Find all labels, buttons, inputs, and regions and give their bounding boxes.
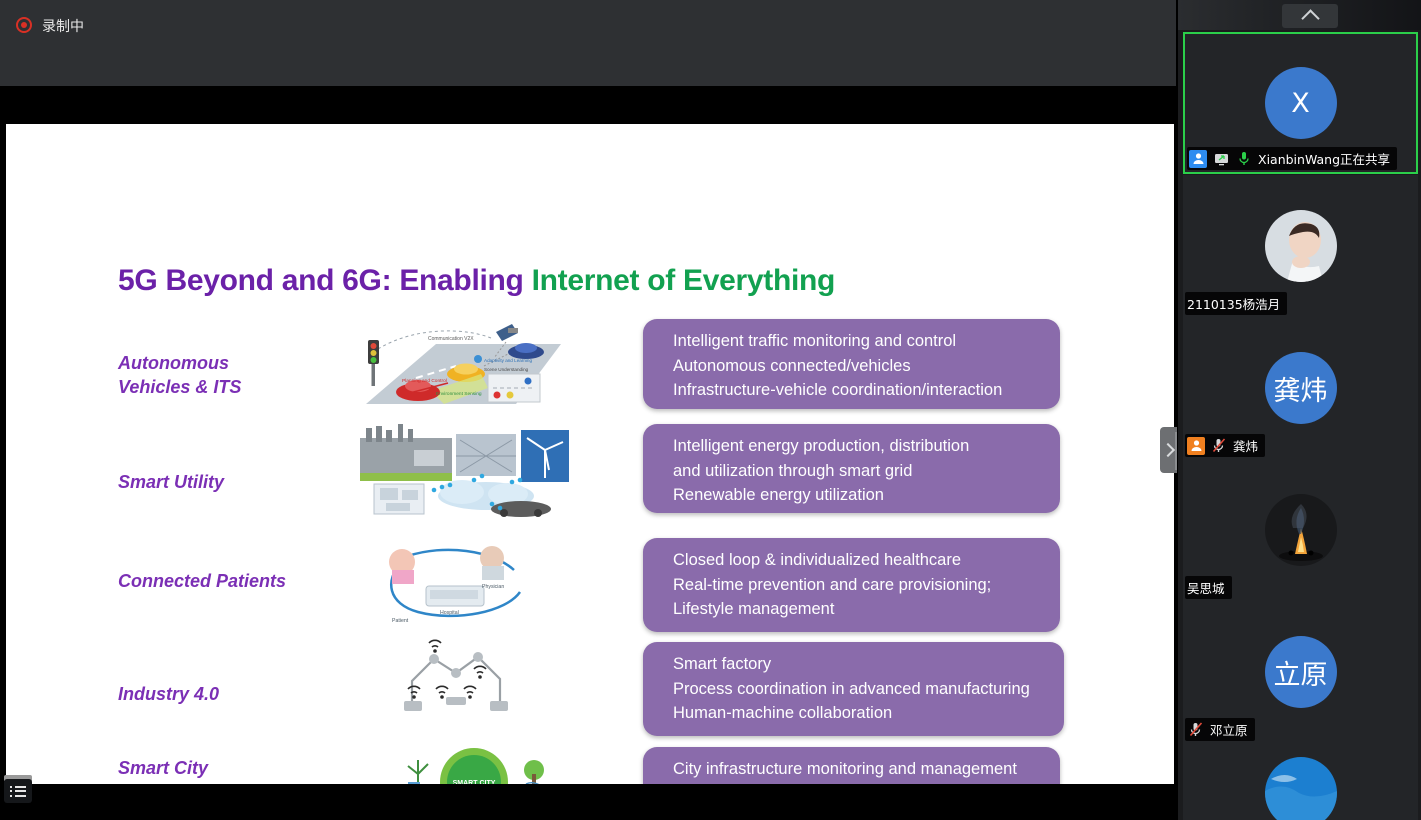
connected-patients-diagram: Patient Physician Hospital <box>374 542 539 630</box>
svg-text:Physician: Physician <box>482 584 504 590</box>
avatar: X <box>1265 67 1337 139</box>
chevron-up-icon <box>1301 9 1319 27</box>
collapse-up-button[interactable] <box>1282 4 1338 28</box>
smart-city-diagram: SMART CITY <box>384 730 564 784</box>
participant-name: 吴思城 <box>1187 578 1225 597</box>
mic-on-icon <box>1235 150 1253 168</box>
card-bullet: City infrastructure monitoring and manag… <box>673 757 1042 782</box>
content-card-industry-40: Smart factory Process coordination in ad… <box>643 642 1064 736</box>
svg-text:Environment Sensing: Environment Sensing <box>436 391 482 397</box>
svg-text:Planning and Control: Planning and Control <box>402 378 447 384</box>
row-label-industry-40: Industry 4.0 <box>118 682 219 706</box>
shared-slide: 5G Beyond and 6G: Enabling Internet of E… <box>6 124 1174 784</box>
card-bullet: Infrastructure-vehicle coordination/inte… <box>673 378 1042 403</box>
smart-grid-diagram <box>356 424 571 519</box>
participant-tile[interactable] <box>1183 743 1418 820</box>
participant-name: 邓立原 <box>1210 720 1248 739</box>
panel-header <box>1178 0 1421 30</box>
page-title-part1: 5G Beyond and 6G: Enabling <box>118 264 532 297</box>
participant-name-strip: 吴思城 <box>1185 576 1232 599</box>
participant-name: 2110135杨浩月 <box>1187 294 1280 313</box>
page-title-part2: Internet of Everything <box>532 264 835 297</box>
svg-text:Hospital: Hospital <box>440 610 459 616</box>
row-label-autonomous-vehicles: Autonomous Vehicles & ITS <box>118 351 241 399</box>
avatar: 龚炜 <box>1265 352 1337 424</box>
card-bullet: Intelligent energy production, distribut… <box>673 434 1042 459</box>
participant-icon <box>1187 437 1205 455</box>
content-card-connected-patients: Closed loop & individualized healthcare … <box>643 538 1060 632</box>
avatar <box>1265 757 1337 820</box>
content-card-smart-city: City infrastructure monitoring and manag… <box>643 747 1060 784</box>
letterbox-bottom <box>6 784 1174 820</box>
row-label-connected-patients: Connected Patients <box>118 569 286 593</box>
svg-text:Adaptivity and Learning: Adaptivity and Learning <box>484 358 532 363</box>
participant-name-strip: 龚炜 <box>1185 434 1265 457</box>
mic-muted-icon <box>1187 721 1205 739</box>
screen-share-icon <box>1212 150 1230 168</box>
industry-robots-diagram <box>396 629 516 717</box>
participant-icon <box>1189 150 1207 168</box>
participant-tile[interactable]: X XianbinWang正在共享 <box>1183 32 1418 174</box>
card-bullet: Process coordination in advanced manufac… <box>673 677 1046 702</box>
card-bullet: and utilization through smart grid <box>673 459 1042 484</box>
card-bullet: Renewable energy utilization <box>673 483 1042 508</box>
content-card-smart-utility: Intelligent energy production, distribut… <box>643 424 1060 513</box>
row-label-line2: Vehicles & ITS <box>118 375 241 399</box>
app-root: 录制中 5G Beyond and 6G: Enabling Internet … <box>0 0 1421 820</box>
card-bullet: Closed loop & individualized healthcare <box>673 548 1042 573</box>
participant-name: XianbinWang正在共享 <box>1258 149 1390 168</box>
participant-name: 龚炜 <box>1233 436 1258 455</box>
participant-tile[interactable]: 立原 邓立原 <box>1183 601 1418 743</box>
card-bullet: Smart factory <box>673 652 1046 677</box>
card-bullet: Human-machine collaboration <box>673 701 1046 726</box>
page-title: 5G Beyond and 6G: Enabling Internet of E… <box>118 264 835 298</box>
card-bullet: Autonomous connected/vehicles <box>673 354 1042 379</box>
chevron-right-icon <box>1160 443 1174 457</box>
avatar: 立原 <box>1265 636 1337 708</box>
record-dot-icon <box>16 17 32 33</box>
letterbox-top <box>0 86 1176 124</box>
autonomous-vehicles-diagram: Communication V2X Adaptivity and Learnin… <box>356 316 571 416</box>
participant-name-strip: XianbinWang正在共享 <box>1187 147 1397 170</box>
participant-tile[interactable]: 2110135杨浩月 <box>1183 175 1418 317</box>
row-label-line1: Autonomous <box>118 351 241 375</box>
svg-text:Patient: Patient <box>392 618 409 624</box>
card-bullet: Lifestyle management <box>673 597 1042 622</box>
row-label-smart-utility: Smart Utility <box>118 470 224 494</box>
row-label-smart-city: Smart City <box>118 756 208 780</box>
recording-bar: 录制中 <box>0 0 1176 86</box>
content-card-autonomous-vehicles: Intelligent traffic monitoring and contr… <box>643 319 1060 409</box>
card-bullet: Real-time prevention and care provisioni… <box>673 573 1042 598</box>
avatar <box>1265 494 1337 566</box>
svg-text:Communication V2X: Communication V2X <box>428 336 474 342</box>
list-view-icon[interactable] <box>4 779 32 803</box>
svg-text:Scene Understanding: Scene Understanding <box>484 367 529 372</box>
participant-name-strip: 2110135杨浩月 <box>1185 292 1287 315</box>
card-bullet: Intelligent traffic monitoring and contr… <box>673 329 1042 354</box>
participant-tile[interactable]: 吴思城 <box>1183 459 1418 601</box>
participant-name-strip: 邓立原 <box>1185 718 1255 741</box>
mic-muted-icon <box>1210 437 1228 455</box>
recording-label: 录制中 <box>42 16 84 36</box>
avatar <box>1265 210 1337 282</box>
participant-tile[interactable]: 龚炜 龚炜 <box>1183 317 1418 459</box>
